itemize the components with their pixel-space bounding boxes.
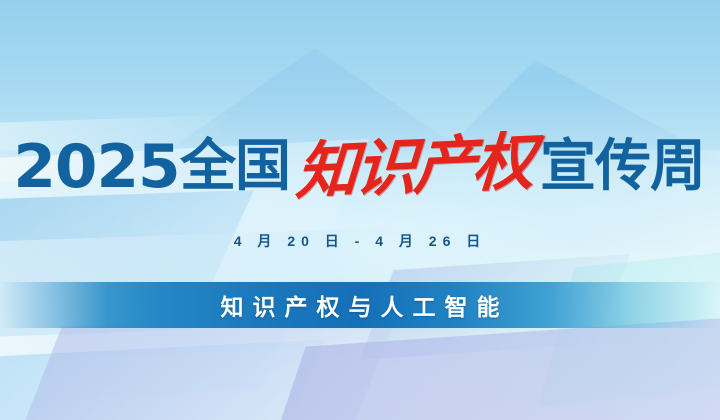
banner-subtitle: 知识产权与人工智能: [212, 288, 509, 322]
headline-suffix: 宣传周: [540, 139, 705, 195]
decorative-panel-blue-lower: [0, 339, 325, 420]
headline-highlight: 知识产权: [294, 131, 534, 204]
subtitle-bar: 知识产权与人工智能: [0, 282, 720, 328]
headline-year: 2025: [13, 137, 179, 197]
event-date-range: 4 月 20 日 - 4 月 26 日: [0, 231, 720, 251]
decorative-panel-lavender-right: [252, 314, 720, 420]
headline-prefix: 全国: [180, 139, 290, 195]
background-right-glow: [430, 250, 720, 420]
ip-week-banner: 2025 全国 知识产权 宣传周 4 月 20 日 - 4 月 26 日 知识产…: [0, 0, 720, 420]
banner-headline: 2025 全国 知识产权 宣传周: [0, 126, 720, 208]
